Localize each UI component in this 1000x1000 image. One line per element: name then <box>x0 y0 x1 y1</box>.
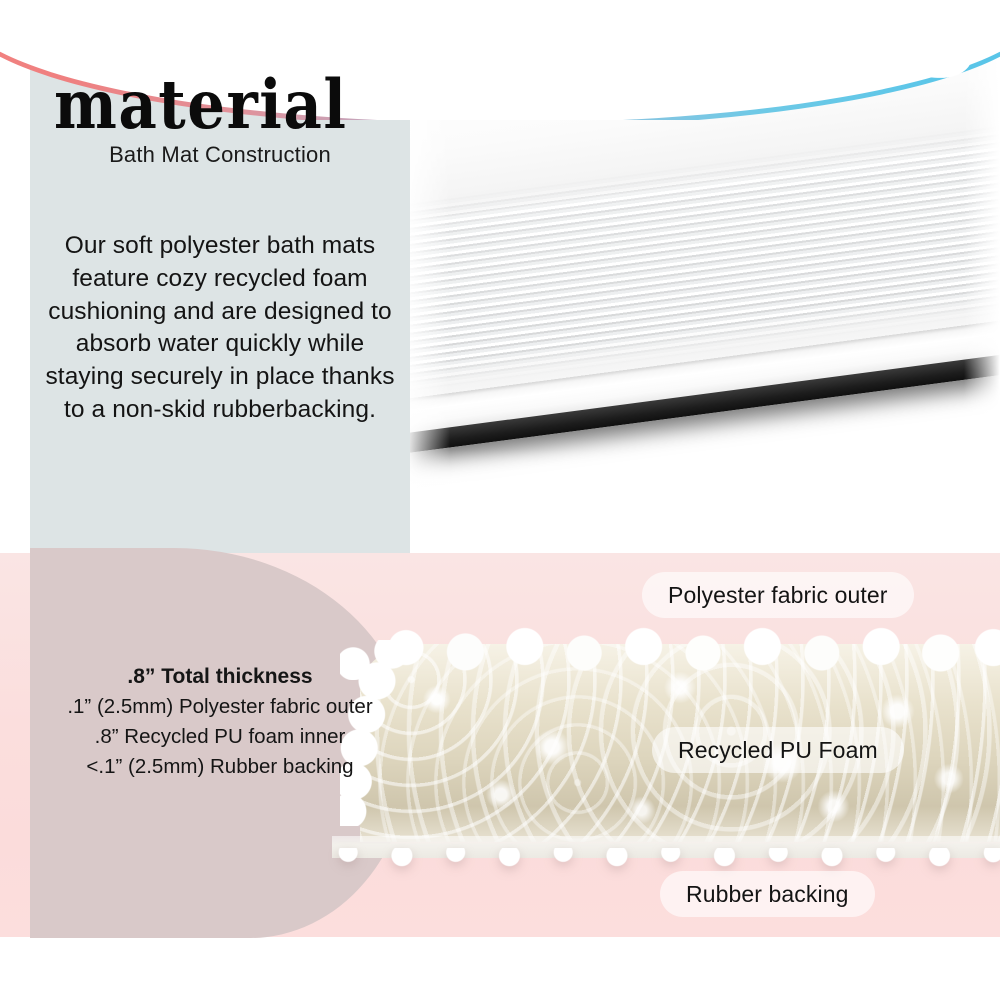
infographic-canvas: material Bath Mat Construction Our soft … <box>0 0 1000 1000</box>
spec-line: .1” (2.5mm) Polyester fabric outer <box>32 692 408 722</box>
description-paragraph: Our soft polyester bath mats feature coz… <box>36 230 404 427</box>
spec-heading: .8” Total thickness <box>32 662 408 692</box>
fabric-pile-top-layer <box>340 626 1000 680</box>
s-swoosh-logo-icon <box>900 6 978 78</box>
page-subtitle: Bath Mat Construction <box>30 142 410 168</box>
spec-line: .8” Recycled PU foam inner <box>32 722 408 752</box>
callout-recycled-pu-foam: Recycled PU Foam <box>652 727 904 773</box>
spec-line: <.1” (2.5mm) Rubber backing <box>32 752 408 782</box>
rubber-backing-edge-texture <box>328 848 1000 870</box>
callout-rubber-backing: Rubber backing <box>660 871 875 917</box>
page-title: material <box>54 72 391 139</box>
thickness-spec-list: .8” Total thickness .1” (2.5mm) Polyeste… <box>32 662 408 782</box>
photo-bottom-fade <box>404 450 1000 530</box>
callout-polyester-fabric-outer: Polyester fabric outer <box>642 572 914 618</box>
